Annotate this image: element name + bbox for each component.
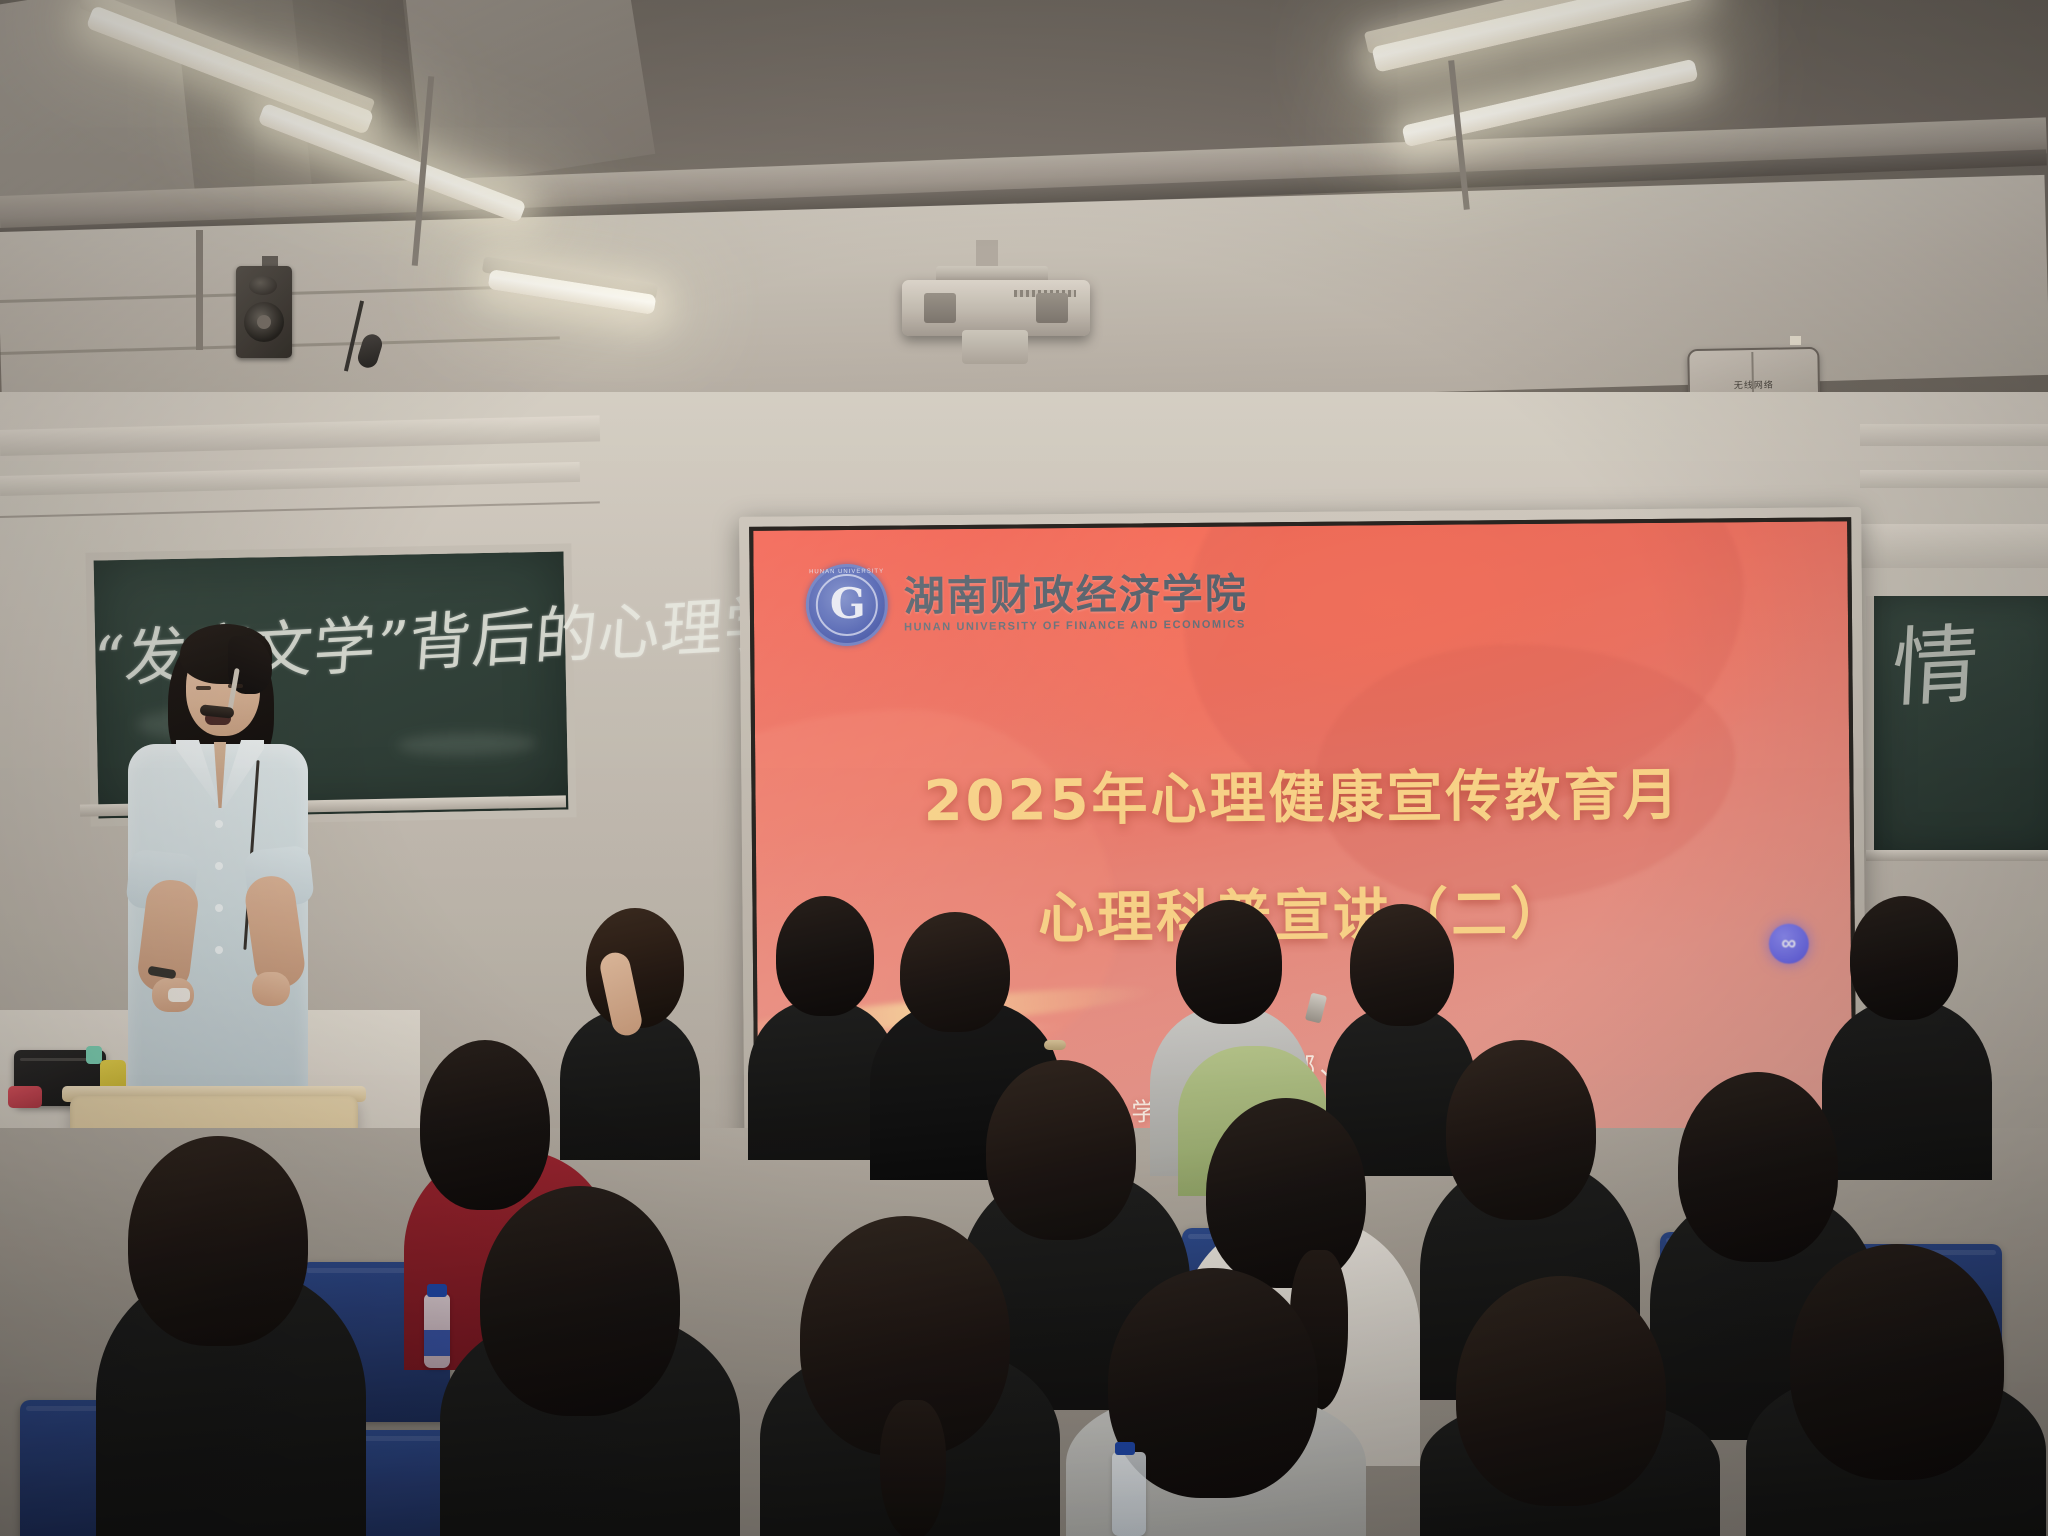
audience-member-head bbox=[128, 1136, 308, 1346]
presenter-hand bbox=[252, 972, 290, 1006]
chalk-smudge bbox=[397, 732, 537, 757]
audience-member-head bbox=[1350, 904, 1454, 1026]
shirt-button bbox=[215, 820, 223, 828]
bottle-cap bbox=[1115, 1442, 1135, 1455]
chalkboard-right-rail bbox=[1866, 850, 2048, 861]
audience-member-head bbox=[986, 1060, 1136, 1240]
projector-lens-housing bbox=[962, 330, 1028, 364]
audience-member-head bbox=[1176, 900, 1282, 1024]
app-icon-glyph: ∞ bbox=[1769, 924, 1809, 964]
shirt-button bbox=[215, 862, 223, 870]
audience-member-head bbox=[1446, 1040, 1596, 1220]
wall-trim-strip bbox=[1860, 524, 2048, 568]
audience-member-head bbox=[900, 912, 1010, 1032]
seal-arc-text: HUNAN UNIVERSITY bbox=[809, 569, 885, 576]
wall-speaker bbox=[236, 266, 292, 358]
water-bottle[interactable] bbox=[1112, 1452, 1146, 1536]
shirt-button bbox=[215, 904, 223, 912]
presentation-clicker[interactable] bbox=[168, 988, 190, 1002]
projector-vent bbox=[924, 293, 956, 323]
audience-member-head bbox=[1790, 1244, 2004, 1480]
bottle-label bbox=[424, 1330, 450, 1356]
audience-member-head bbox=[1206, 1098, 1366, 1288]
slide-title-line1: 2025年心理健康宣传教育月 bbox=[755, 757, 1850, 841]
university-name-en: HUNAN UNIVERSITY OF FINANCE AND ECONOMIC… bbox=[904, 616, 1248, 635]
audience-member-head bbox=[776, 896, 874, 1016]
audience-member-head bbox=[1456, 1276, 1666, 1506]
audience-member-head bbox=[480, 1186, 680, 1416]
wall-trim-strip bbox=[1860, 424, 2048, 446]
bag-accessory-green bbox=[86, 1046, 102, 1064]
university-name-block: 湖南财政经济学院 HUNAN UNIVERSITY OF FINANCE AND… bbox=[904, 570, 1249, 635]
university-name-cn: 湖南财政经济学院 bbox=[904, 570, 1248, 619]
ceiling-projector bbox=[902, 280, 1090, 336]
speaker-tweeter bbox=[249, 276, 277, 295]
audience-member-head bbox=[1678, 1072, 1838, 1262]
university-seal-icon: HUNAN UNIVERSITY G bbox=[806, 564, 889, 647]
audience-member-head bbox=[420, 1040, 550, 1210]
wall-indicator-lamp bbox=[1790, 336, 1801, 345]
hair-clip bbox=[1044, 1040, 1066, 1050]
university-logo: HUNAN UNIVERSITY G 湖南财政经济学院 HUNAN UNIVER… bbox=[806, 560, 1249, 646]
conduit-pipe bbox=[196, 230, 203, 350]
audience-member-head bbox=[1850, 896, 1958, 1020]
classroom-photo: 16:31:28 2025年05月27日 星期2 无线网络 “发疯文学”背后的心… bbox=[0, 0, 2048, 1536]
presentation-app-icon[interactable]: ∞ bbox=[1769, 924, 1809, 964]
audience-member-ponytail bbox=[880, 1400, 946, 1536]
ap-box-label: 无线网络 bbox=[1690, 377, 1818, 392]
audience-member-body bbox=[1822, 1000, 1992, 1180]
projector-vent bbox=[1036, 293, 1068, 323]
wall-trim-strip bbox=[1860, 470, 2048, 488]
speaker-woofer bbox=[244, 302, 284, 342]
seal-monogram: G bbox=[826, 579, 870, 629]
presenter-eye bbox=[196, 686, 211, 690]
chalkboard-right-text: 情 bbox=[1889, 605, 2048, 724]
shirt-button bbox=[215, 946, 223, 954]
bag-accessory-red bbox=[8, 1086, 42, 1108]
bottle-cap bbox=[427, 1284, 447, 1297]
water-bottle[interactable] bbox=[424, 1294, 450, 1368]
